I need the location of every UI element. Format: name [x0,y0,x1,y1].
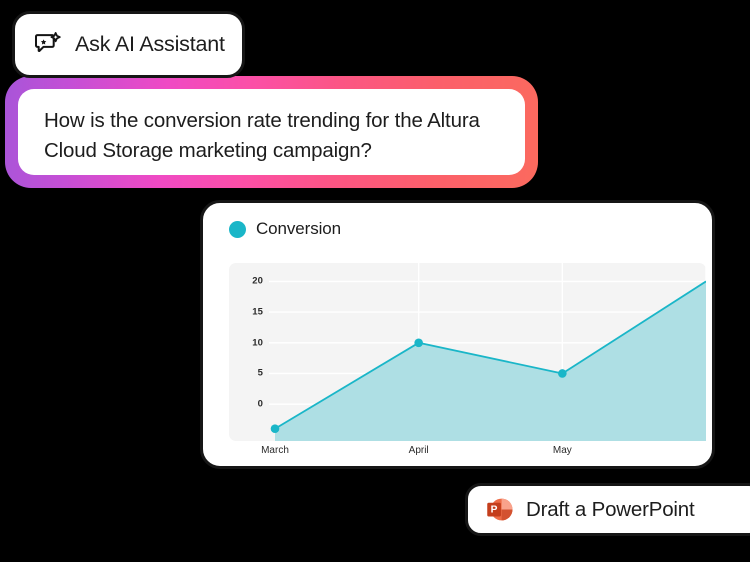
canvas: Ask AI Assistant How is the conversion r… [0,0,750,562]
chart-data-point[interactable] [414,338,423,347]
ai-chat-sparkle-icon [35,32,62,58]
legend-dot-conversion [229,221,246,238]
prompt-text: How is the conversion rate trending for … [44,106,499,166]
chart-area-fill [275,281,706,441]
chart-y-tick-label: 0 [258,399,263,410]
chart-plot-area: 20151050 MarchAprilMay [229,263,706,441]
chart-series-conversion [271,281,706,441]
chart-legend: Conversion [203,203,712,239]
ask-ai-assistant-button[interactable]: Ask AI Assistant [12,11,245,78]
chart-x-tick-label: May [553,445,572,456]
chart-y-tick-label: 20 [252,276,263,287]
chart-data-point[interactable] [558,369,567,378]
powerpoint-icon-letter: P [491,505,498,516]
prompt-bubble-gradient-frame: How is the conversion rate trending for … [5,76,538,188]
legend-label-conversion: Conversion [256,219,341,239]
chart-y-tick-label: 5 [258,368,263,379]
prompt-bubble[interactable]: How is the conversion rate trending for … [18,89,525,175]
chart-y-tick-label: 15 [252,307,263,318]
chart-svg [229,263,706,441]
ask-ai-assistant-label: Ask AI Assistant [75,32,225,57]
chart-y-axis-labels: 20151050 [229,263,269,441]
chart-x-tick-label: April [409,445,429,456]
chart-y-tick-label: 10 [252,337,263,348]
chart-data-point[interactable] [271,424,280,433]
chart-x-axis-labels: MarchAprilMay [229,445,706,463]
powerpoint-icon: P [486,496,513,523]
chart-x-tick-label: March [261,445,289,456]
draft-a-powerpoint-button[interactable]: P Draft a PowerPoint [465,483,750,536]
conversion-chart-card: Conversion 20151050 MarchAprilMay [200,200,715,469]
draft-a-powerpoint-label: Draft a PowerPoint [526,498,694,522]
